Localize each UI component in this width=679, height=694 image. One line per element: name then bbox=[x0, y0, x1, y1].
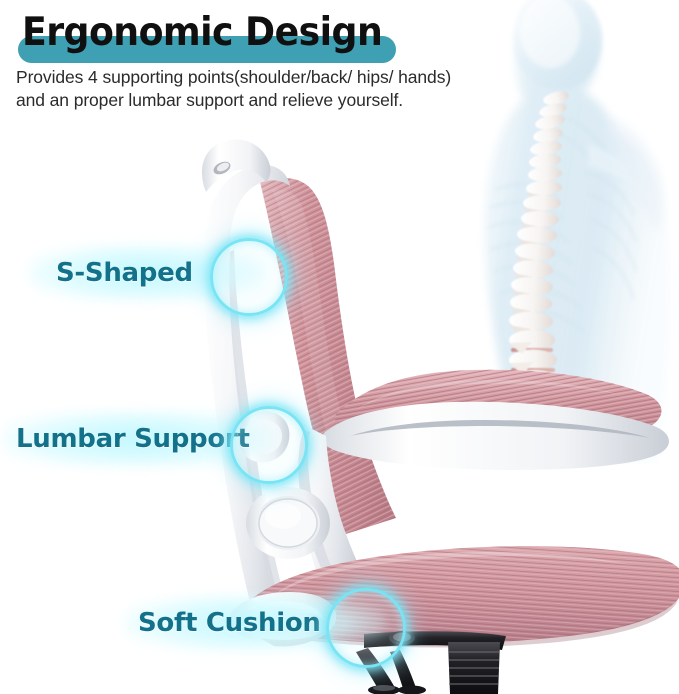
callout-label: Soft Cushion bbox=[138, 608, 321, 638]
armrest-pivot bbox=[246, 487, 330, 559]
callout-label: Lumbar Support bbox=[16, 424, 250, 454]
highlight-ring-s-shaped bbox=[210, 238, 288, 316]
callout-label: S-Shaped bbox=[56, 258, 193, 288]
highlight-ring-lumbar-support bbox=[230, 406, 308, 484]
subtitle-line-1: Provides 4 supporting points(shoulder/ba… bbox=[16, 66, 616, 89]
header-title-block: Ergonomic Design bbox=[18, 8, 458, 64]
header-subtitle: Provides 4 supporting points(shoulder/ba… bbox=[16, 66, 616, 112]
highlight-ring-soft-cushion bbox=[326, 588, 406, 668]
subtitle-line-2: and an proper lumbar support and relieve… bbox=[16, 89, 616, 112]
infographic-canvas: Ergonomic Design Provides 4 supporting p… bbox=[0, 0, 679, 694]
page-title: Ergonomic Design bbox=[22, 8, 382, 58]
